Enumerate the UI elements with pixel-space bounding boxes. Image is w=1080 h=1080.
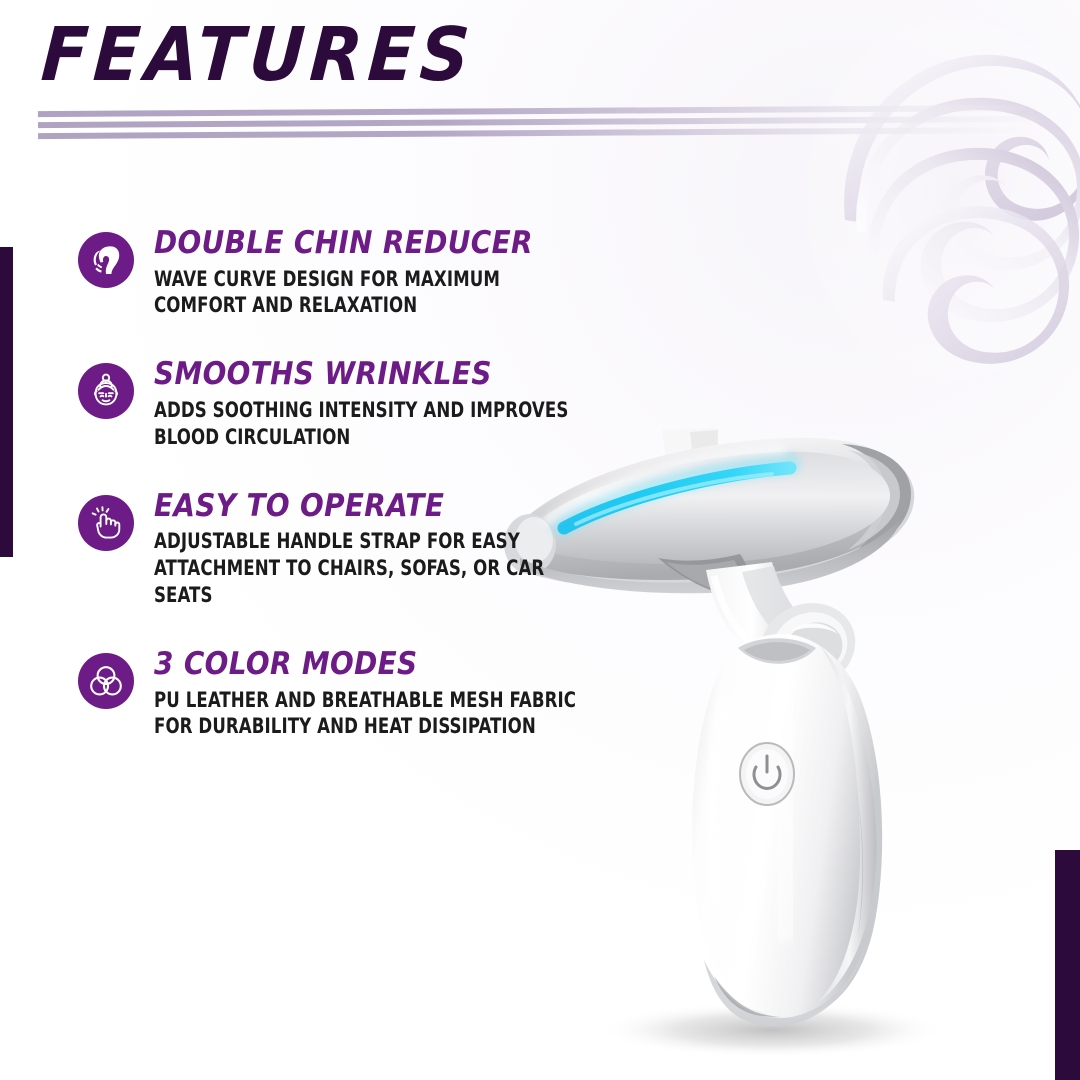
device-rear-prong (662, 428, 722, 498)
white-handle-body (692, 634, 882, 1026)
feature-item: DOUBLE CHIN REDUCER WAVE CURVE DESIGN FO… (78, 228, 638, 319)
left-edge-bar (0, 247, 13, 557)
device-neck-stem (706, 562, 808, 652)
feature-text: 3 COLOR MODES PU LEATHER AND BREATHABLE … (154, 649, 638, 740)
three-circles-venn-icon (78, 653, 134, 709)
feature-title: SMOOTHS WRINKLES (154, 359, 590, 391)
feature-text: DOUBLE CHIN REDUCER WAVE CURVE DESIGN FO… (154, 228, 638, 319)
device-pivot-joint (748, 589, 868, 703)
feature-title: DOUBLE CHIN REDUCER (154, 228, 590, 260)
face-profile-icon (78, 232, 134, 288)
feature-description: ADDS SOOTHING INTENSITY AND IMPROVES BLO… (154, 397, 580, 451)
feature-title: EASY TO OPERATE (154, 491, 590, 523)
underline-rule-2 (38, 116, 1048, 128)
feature-text: EASY TO OPERATE ADJUSTABLE HANDLE STRAP … (154, 491, 638, 609)
underline-rule-3 (38, 127, 1023, 139)
feature-text: SMOOTHS WRINKLES ADDS SOOTHING INTENSITY… (154, 359, 638, 450)
feature-item: 3 COLOR MODES PU LEATHER AND BREATHABLE … (78, 649, 638, 740)
feature-description: WAVE CURVE DESIGN FOR MAXIMUM COMFORT AN… (154, 266, 580, 320)
feature-title: 3 COLOR MODES (154, 649, 590, 681)
feature-description: ADJUSTABLE HANDLE STRAP FOR EASY ATTACHM… (154, 528, 580, 609)
feature-item: SMOOTHS WRINKLES ADDS SOOTHING INTENSITY… (78, 359, 638, 450)
infographic-canvas: FEATURES (0, 0, 1080, 1080)
header: FEATURES (44, 18, 664, 138)
page-title: FEATURES (39, 18, 614, 92)
title-underline-rules (38, 105, 1048, 145)
feature-item: EASY TO OPERATE ADJUSTABLE HANDLE STRAP … (78, 491, 638, 609)
power-icon (754, 756, 780, 788)
abstract-spiral-ribbon-icon (805, 10, 1080, 410)
product-drop-shadow (597, 1002, 947, 1058)
power-button[interactable] (740, 743, 794, 805)
wrinkled-face-icon (78, 363, 134, 419)
feature-description: PU LEATHER AND BREATHABLE MESH FABRIC FO… (154, 687, 580, 741)
right-edge-bar (1055, 850, 1080, 1080)
underline-rule-1 (38, 105, 1038, 117)
features-list: DOUBLE CHIN REDUCER WAVE CURVE DESIGN FO… (78, 228, 638, 740)
tap-hand-icon (78, 495, 134, 551)
